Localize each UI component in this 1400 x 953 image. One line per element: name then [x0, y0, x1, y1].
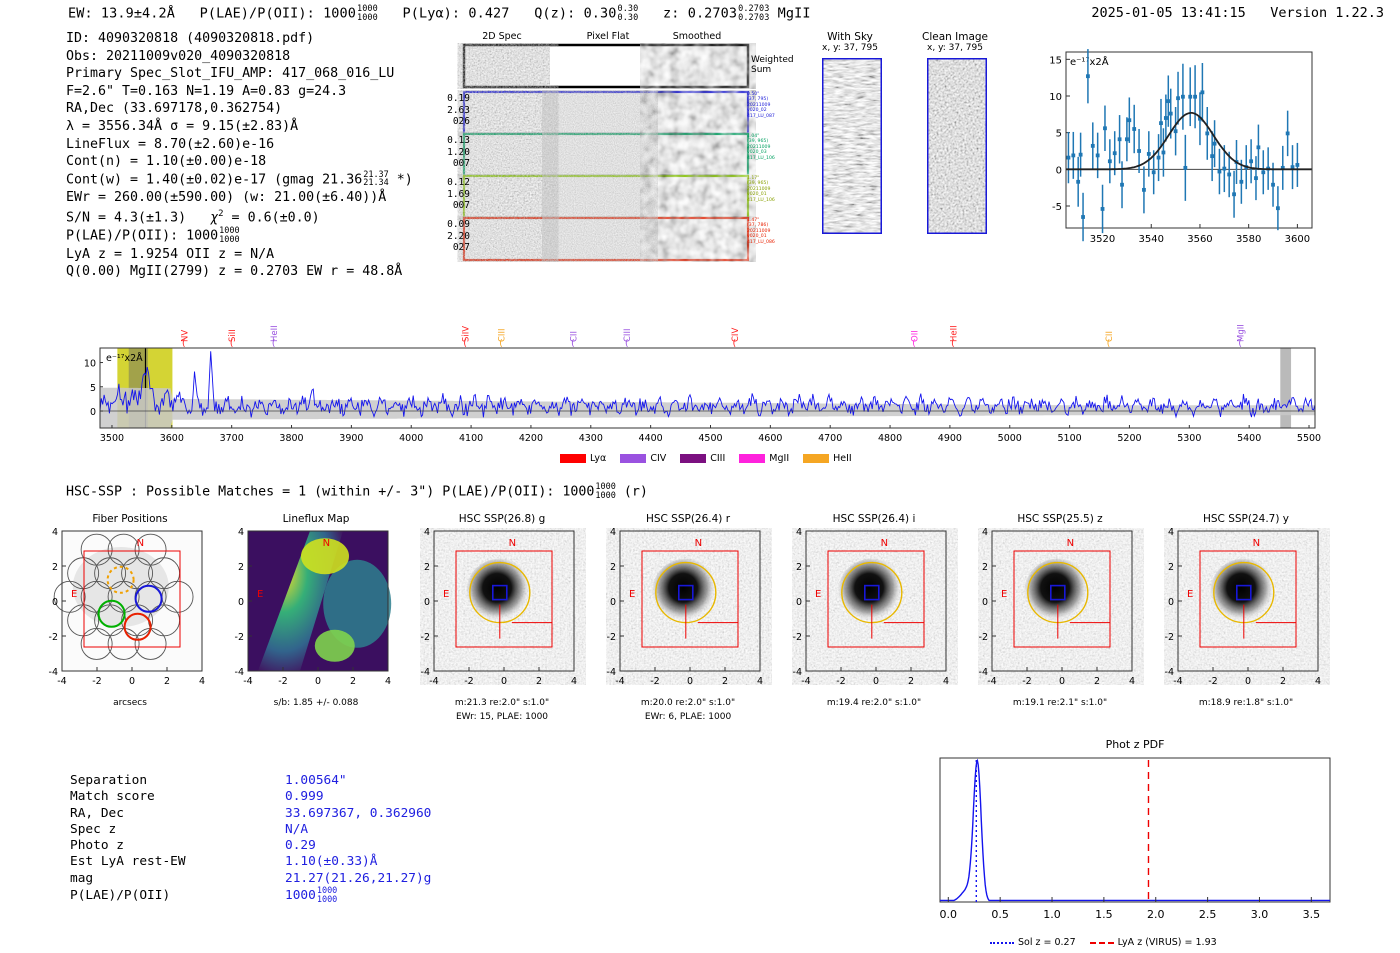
- svg-text:E: E: [815, 589, 821, 600]
- match-key: mag: [70, 871, 285, 887]
- header-datetime: 2025-01-05 13:41:15: [1091, 5, 1245, 21]
- svg-text:2: 2: [164, 676, 170, 687]
- svg-text:E: E: [71, 589, 77, 600]
- svg-text:5000: 5000: [998, 433, 1022, 444]
- svg-text:4: 4: [1129, 676, 1135, 687]
- spec2d-fiber-row-4: [464, 218, 748, 260]
- svg-text:-2: -2: [650, 676, 659, 687]
- svg-text:4100: 4100: [459, 433, 483, 444]
- svg-text:2: 2: [238, 562, 244, 573]
- cutout-title-3: HSC SSP(26.4) r: [618, 513, 758, 525]
- legend-swatch: [560, 454, 586, 463]
- svg-text:4300: 4300: [579, 433, 603, 444]
- svg-text:-4: -4: [57, 676, 66, 687]
- info-line-cont-w: Cont(w) = 1.40(±0.02)e-17 (gmag 21.3621.…: [66, 171, 413, 189]
- spec2d-fiber-row-1: [464, 92, 748, 134]
- svg-text:5400: 5400: [1237, 433, 1261, 444]
- info-line-lya-z: LyA z = 1.9254 OII z = N/A: [66, 246, 413, 264]
- svg-text:4: 4: [943, 676, 949, 687]
- info-line-radec: RA,Dec (33.697178,0.362754): [66, 100, 413, 118]
- svg-text:N: N: [695, 538, 702, 549]
- svg-text:4900: 4900: [938, 433, 962, 444]
- cutout-sub2-3: EWr: 6, PLAE: 1000: [596, 712, 780, 722]
- svg-text:3540: 3540: [1139, 234, 1164, 245]
- match-value: 1.00564": [285, 773, 347, 788]
- photz-legend-label: Sol z = 0.27: [1018, 937, 1076, 948]
- svg-text:0: 0: [1245, 676, 1251, 687]
- legend-label: CIII: [710, 453, 725, 464]
- match-value: N/A: [285, 822, 308, 837]
- svg-text:2.0: 2.0: [1147, 908, 1165, 921]
- info-line-cont-n: Cont(n) = 1.10(±0.00)e-18: [66, 153, 413, 171]
- full-spectrum-chart: NV(SiII(HeII(SiIV(CIII(CII(CIII(CIV(OII(…: [60, 300, 1350, 465]
- svg-text:-4: -4: [1165, 667, 1174, 678]
- svg-text:4: 4: [610, 528, 616, 538]
- cutout-image-5[interactable]: NE-4-4-2-2002244: [960, 528, 1144, 702]
- svg-text:5300: 5300: [1177, 433, 1201, 444]
- with-sky-subtitle: x, y: 37, 795: [808, 43, 892, 53]
- svg-text:2: 2: [424, 562, 430, 573]
- svg-text:0: 0: [982, 597, 988, 608]
- svg-text:3800: 3800: [279, 433, 303, 444]
- svg-text:15: 15: [1049, 55, 1062, 66]
- svg-text:0: 0: [1056, 165, 1062, 176]
- info-line-fwhm: F=2.6" T=0.163 N=1.19 A=0.83 g=24.3: [66, 83, 413, 101]
- svg-text:-2: -2: [278, 676, 287, 687]
- photz-legend-label: LyA z (VIRUS) = 1.93: [1118, 937, 1217, 948]
- photz-pdf-title: Phot z PDF: [935, 738, 1335, 751]
- info-line-ewr: EWr = 260.00(±590.00) (w: 21.00(±6.40))Å: [66, 189, 413, 207]
- hsc-header-text-a: HSC-SSP : Possible Matches = 1 (within +…: [66, 485, 594, 500]
- legend-label: CIV: [650, 453, 666, 464]
- svg-text:0: 0: [315, 676, 321, 687]
- svg-text:10: 10: [84, 359, 96, 370]
- cutout-image-1[interactable]: NE-4-4-2-2002244: [216, 528, 400, 702]
- spectrum-legend: LyαCIVCIIIMgIIHeII: [560, 448, 866, 467]
- match-value: 1000: [285, 888, 316, 903]
- svg-text:4800: 4800: [878, 433, 902, 444]
- match-row: mag21.27(21.26,21.27)g: [70, 871, 431, 887]
- svg-text:-4: -4: [243, 676, 252, 687]
- svg-text:N: N: [1067, 538, 1074, 549]
- match-row: Spec zN/A: [70, 822, 431, 838]
- svg-text:2: 2: [982, 562, 988, 573]
- svg-text:0: 0: [610, 597, 616, 608]
- photz-legend-swatch: [990, 942, 1014, 944]
- svg-text:-2: -2: [421, 632, 430, 643]
- svg-text:4: 4: [1315, 676, 1321, 687]
- svg-text:2: 2: [52, 562, 58, 573]
- match-value: 33.697367, 0.362960: [285, 806, 431, 821]
- svg-text:0.0: 0.0: [940, 908, 958, 921]
- svg-text:N: N: [1253, 538, 1260, 549]
- svg-text:1.0: 1.0: [1043, 908, 1061, 921]
- svg-text:E: E: [257, 589, 263, 600]
- svg-text:0.5: 0.5: [991, 908, 1009, 921]
- clean-image-title: Clean Image: [913, 31, 997, 43]
- svg-text:4700: 4700: [818, 433, 842, 444]
- spec2d-row3-sidelabel: 1.17"(39, 965)20211009v020_01417_LU_106: [747, 176, 775, 203]
- match-value: 1.10(±0.33)Å: [285, 854, 377, 869]
- svg-text:5: 5: [90, 383, 96, 394]
- legend-swatch: [620, 454, 646, 463]
- match-table: Separation1.00564"Match score0.999RA, De…: [70, 773, 431, 904]
- svg-text:E: E: [629, 589, 635, 600]
- info-line-lineflux: LineFlux = 8.70(±2.60)e-16: [66, 136, 413, 154]
- cutout-sub1-1: s/b: 1.85 +/- 0.088: [224, 698, 408, 708]
- svg-text:3900: 3900: [339, 433, 363, 444]
- svg-text:0: 0: [129, 676, 135, 687]
- svg-text:e⁻¹⁷x2Å: e⁻¹⁷x2Å: [106, 352, 143, 364]
- svg-text:2: 2: [610, 562, 616, 573]
- svg-text:4: 4: [424, 528, 430, 538]
- header-z: z: 0.2703: [663, 6, 737, 22]
- match-row: RA, Dec33.697367, 0.362960: [70, 806, 431, 822]
- legend-label: MgII: [769, 453, 789, 464]
- svg-text:-2: -2: [1022, 676, 1031, 687]
- svg-text:4: 4: [757, 676, 763, 687]
- svg-text:-4: -4: [793, 667, 802, 678]
- cutout-sub1-2: m:21.3 re:2.0" s:1.0": [410, 698, 594, 708]
- svg-text:-2: -2: [464, 676, 473, 687]
- svg-text:N: N: [323, 538, 330, 549]
- cutout-title-5: HSC SSP(25.5) z: [990, 513, 1130, 525]
- svg-text:-2: -2: [92, 676, 101, 687]
- svg-text:2: 2: [722, 676, 728, 687]
- hsc-header-text-b: (r): [624, 485, 648, 500]
- svg-text:4: 4: [1168, 528, 1174, 538]
- svg-text:-4: -4: [987, 676, 996, 687]
- spec2d-row1-sidelabel: 0.50"(37, 795)20211009v020_02417_LU_087: [747, 92, 775, 119]
- svg-text:2: 2: [796, 562, 802, 573]
- cutout-image-0[interactable]: NE-4-4-2-2002244: [30, 528, 214, 702]
- spec2d-weighted-sum-row: [464, 45, 748, 87]
- svg-text:-4: -4: [421, 667, 430, 678]
- svg-text:-2: -2: [793, 632, 802, 643]
- spec2d-row1-leftnums: 0.192.63026: [440, 93, 470, 128]
- match-value: 21.27(21.26,21.27)g: [285, 871, 431, 886]
- svg-text:N: N: [137, 538, 144, 549]
- match-key: Spec z: [70, 822, 285, 838]
- svg-text:e⁻¹⁷x2Å: e⁻¹⁷x2Å: [1070, 55, 1109, 68]
- with-sky-image: [822, 58, 882, 234]
- cutout-title-6: HSC SSP(24.7) y: [1176, 513, 1316, 525]
- header-qz: Q(z): 0.30: [534, 6, 616, 22]
- match-row: P(LAE)/P(OII)100010001000: [70, 887, 431, 904]
- with-sky-title: With Sky: [808, 31, 892, 43]
- spec2d-row4-leftnums: 0.092.20027: [440, 219, 470, 254]
- info-line-lambda: λ = 3556.34Å σ = 9.15(±2.83)Å: [66, 118, 413, 136]
- svg-text:4: 4: [52, 528, 58, 538]
- svg-text:E: E: [443, 589, 449, 600]
- svg-text:2: 2: [536, 676, 542, 687]
- svg-text:4000: 4000: [399, 433, 423, 444]
- cutout-title-2: HSC SSP(26.8) g: [432, 513, 572, 525]
- spec2d-col-title-pixelflat: Pixel Flat: [587, 31, 630, 42]
- svg-text:4: 4: [385, 676, 391, 687]
- spec2d-fiber-row-2: [464, 134, 748, 176]
- info-line-plae: P(LAE)/P(OII): 100010001000: [66, 227, 413, 245]
- spec2d-weighted-sum-label-2: Sum: [751, 65, 771, 75]
- svg-text:0: 0: [501, 676, 507, 687]
- svg-text:3600: 3600: [160, 433, 184, 444]
- match-value: 0.999: [285, 789, 324, 804]
- svg-text:4: 4: [238, 528, 244, 538]
- cutout-sub1-5: m:19.1 re:2.1" s:1.0": [968, 698, 1152, 708]
- svg-text:-4: -4: [979, 667, 988, 678]
- hsc-header-line: HSC-SSP : Possible Matches = 1 (within +…: [66, 483, 648, 500]
- cutout-sub1-0: arcsecs: [38, 698, 222, 708]
- match-row: Separation1.00564": [70, 773, 431, 789]
- match-value: 0.29: [285, 838, 316, 853]
- svg-text:4: 4: [199, 676, 205, 687]
- spec2d-row2-sidelabel: 1.04"(39, 965)20211009v020_03417_LU_106: [747, 134, 775, 161]
- header-plae-frac: 10001000: [357, 5, 378, 22]
- spec2d-weighted-sum-label-1: Weighted: [751, 55, 794, 65]
- svg-text:-2: -2: [1165, 632, 1174, 643]
- svg-text:-4: -4: [429, 676, 438, 687]
- header-datetime-version: 2025-01-05 13:41:15 Version 1.22.3: [1091, 5, 1384, 21]
- svg-text:-4: -4: [801, 676, 810, 687]
- cutout-sub1-6: m:18.9 re:1.8" s:1.0": [1154, 698, 1338, 708]
- legend-swatch: [739, 454, 765, 463]
- svg-text:-4: -4: [607, 667, 616, 678]
- header-plae: P(LAE)/P(OII): 1000: [200, 6, 356, 22]
- cutout-image-4[interactable]: NE-4-4-2-2002244: [774, 528, 958, 702]
- svg-text:N: N: [881, 538, 888, 549]
- info-line-id: ID: 4090320818 (4090320818.pdf): [66, 30, 413, 48]
- info-line-q-mgii: Q(0.00) MgII(2799) z = 0.2703 EW r = 48.…: [66, 263, 413, 281]
- spec2d-fiber-row-3: [464, 176, 748, 218]
- svg-text:1.5: 1.5: [1095, 908, 1113, 921]
- svg-text:-4: -4: [1173, 676, 1182, 687]
- svg-text:0: 0: [1059, 676, 1065, 687]
- svg-text:3.5: 3.5: [1303, 908, 1321, 921]
- svg-text:3700: 3700: [220, 433, 244, 444]
- cutout-image-3[interactable]: NE-4-4-2-2002244: [588, 528, 772, 702]
- svg-text:0: 0: [52, 597, 58, 608]
- svg-text:3600: 3600: [1285, 234, 1310, 245]
- source-info-block: ID: 4090320818 (4090320818.pdf) Obs: 202…: [66, 30, 413, 281]
- svg-text:E: E: [1001, 589, 1007, 600]
- clean-image-subtitle: x, y: 37, 795: [913, 43, 997, 53]
- svg-text:0: 0: [796, 597, 802, 608]
- svg-text:4500: 4500: [698, 433, 722, 444]
- svg-text:3.0: 3.0: [1251, 908, 1269, 921]
- svg-text:3560: 3560: [1187, 234, 1212, 245]
- match-key: Match score: [70, 789, 285, 805]
- svg-text:0: 0: [687, 676, 693, 687]
- match-key: Est LyA rest-EW: [70, 854, 285, 870]
- hsc-header-frac: 10001000: [595, 483, 615, 500]
- spec2d-col-title-2dspec: 2D Spec: [482, 31, 522, 42]
- clean-image: [927, 58, 987, 234]
- legend-swatch: [680, 454, 706, 463]
- match-key: Photo z: [70, 838, 285, 854]
- spec2d-col-title-smoothed: Smoothed: [673, 31, 722, 42]
- info-line-primary-spec: Primary Spec_Slot_IFU_AMP: 417_068_016_L…: [66, 65, 413, 83]
- svg-text:2: 2: [1094, 676, 1100, 687]
- photz-legend-swatch: [1090, 942, 1114, 944]
- photz-pdf-chart: 0.00.51.01.52.02.53.03.5: [930, 752, 1340, 927]
- match-row: Match score0.999: [70, 789, 431, 805]
- svg-text:2.5: 2.5: [1199, 908, 1217, 921]
- header-ew: EW: 13.9±4.2Å: [68, 6, 175, 22]
- cutout-title-1: Lineflux Map: [246, 513, 386, 525]
- svg-text:0: 0: [1168, 597, 1174, 608]
- match-row: Photo z0.29: [70, 838, 431, 854]
- svg-text:-2: -2: [836, 676, 845, 687]
- svg-text:4: 4: [571, 676, 577, 687]
- header-version: Version 1.22.3: [1270, 5, 1384, 21]
- cutout-image-6[interactable]: NE-4-4-2-2002244: [1146, 528, 1330, 702]
- svg-text:0: 0: [238, 597, 244, 608]
- svg-text:5100: 5100: [1058, 433, 1082, 444]
- svg-text:E: E: [1187, 589, 1193, 600]
- svg-text:-2: -2: [979, 632, 988, 643]
- cutout-sub1-4: m:19.4 re:2.0" s:1.0": [782, 698, 966, 708]
- line-fit-chart: -505101535203540356035803600e⁻¹⁷x2Å: [1030, 38, 1320, 263]
- photz-legend: Sol z = 0.27LyA z (VIRUS) = 1.93: [990, 932, 1231, 951]
- legend-swatch: [803, 454, 829, 463]
- match-row: Est LyA rest-EW1.10(±0.33)Å: [70, 854, 431, 870]
- match-value-frac: 10001000: [317, 887, 337, 904]
- header-summary-line: EW: 13.9±4.2Å P(LAE)/P(OII): 10001000100…: [68, 5, 811, 22]
- svg-text:-5: -5: [1052, 202, 1062, 213]
- svg-text:4600: 4600: [758, 433, 782, 444]
- svg-text:-4: -4: [49, 667, 58, 678]
- svg-text:5: 5: [1056, 129, 1062, 140]
- header-plya: P(Lyα): 0.427: [403, 6, 510, 22]
- svg-text:-2: -2: [49, 632, 58, 643]
- spec2d-row3-leftnums: 0.121.69007: [440, 177, 470, 212]
- header-z-species: MgII: [778, 6, 811, 22]
- svg-text:2: 2: [1168, 562, 1174, 573]
- svg-text:4200: 4200: [519, 433, 543, 444]
- svg-text:3500: 3500: [100, 433, 124, 444]
- svg-text:0: 0: [90, 407, 96, 418]
- svg-text:2: 2: [1280, 676, 1286, 687]
- svg-text:10: 10: [1049, 92, 1062, 103]
- svg-text:N: N: [509, 538, 516, 549]
- svg-text:3580: 3580: [1236, 234, 1261, 245]
- match-key: P(LAE)/P(OII): [70, 888, 285, 904]
- spec2d-row2-leftnums: 0.131.20007: [440, 135, 470, 170]
- svg-text:4: 4: [982, 528, 988, 538]
- match-key: RA, Dec: [70, 806, 285, 822]
- svg-text:2: 2: [350, 676, 356, 687]
- svg-text:3520: 3520: [1090, 234, 1115, 245]
- spec2d-row4-sidelabel: 1.47"(37, 786)20211009v020_01417_LU_086: [747, 218, 775, 245]
- svg-text:4: 4: [796, 528, 802, 538]
- svg-text:-2: -2: [1208, 676, 1217, 687]
- header-qz-frac: 0.300.30: [617, 5, 638, 22]
- info-line-sn: S/N = 4.3(±1.3) χ2 = 0.6(±0.0): [66, 206, 413, 227]
- cutout-sub1-3: m:20.0 re:2.0" s:1.0": [596, 698, 780, 708]
- cutout-image-2[interactable]: NE-4-4-2-2002244: [402, 528, 586, 702]
- cutout-title-4: HSC SSP(26.4) i: [804, 513, 944, 525]
- cutout-sub2-2: EWr: 15, PLAE: 1000: [410, 712, 594, 722]
- svg-text:5500: 5500: [1297, 433, 1321, 444]
- match-key: Separation: [70, 773, 285, 789]
- legend-label: HeII: [833, 453, 852, 464]
- svg-text:0: 0: [873, 676, 879, 687]
- svg-text:5200: 5200: [1117, 433, 1141, 444]
- svg-text:-4: -4: [235, 667, 244, 678]
- svg-text:-4: -4: [615, 676, 624, 687]
- svg-text:4400: 4400: [639, 433, 663, 444]
- svg-text:-2: -2: [235, 632, 244, 643]
- svg-text:2: 2: [908, 676, 914, 687]
- cutout-title-0: Fiber Positions: [60, 513, 200, 525]
- info-line-obs: Obs: 20211009v020_4090320818: [66, 48, 413, 66]
- svg-text:0: 0: [424, 597, 430, 608]
- svg-text:-2: -2: [607, 632, 616, 643]
- legend-label: Lyα: [590, 453, 606, 464]
- header-z-frac: 0.27030.2703: [738, 5, 769, 22]
